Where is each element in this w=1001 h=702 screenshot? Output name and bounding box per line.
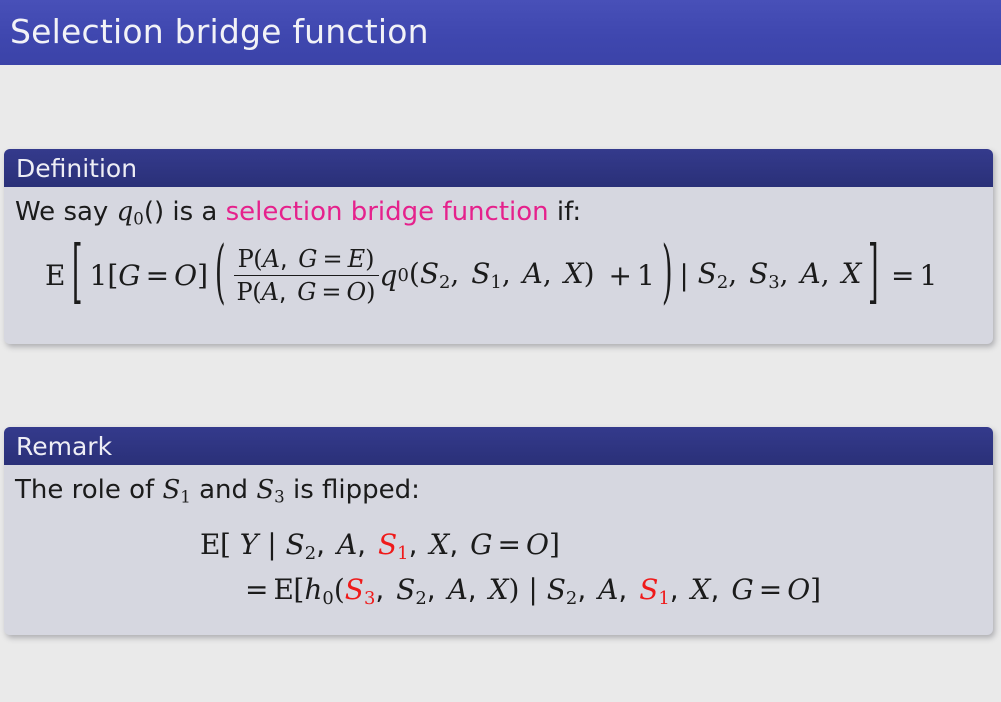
- remark-intro-before: The role of: [15, 475, 162, 505]
- definition-block-body: We say q0() is a selection bridge functi…: [4, 187, 993, 344]
- highlighted-s3-line2: S3: [345, 573, 376, 606]
- remark-equation-line-1: E[ Y | S2, A, S1, X, G=O]: [200, 528, 560, 564]
- definition-block: Definition We say q0() is a selection br…: [4, 149, 993, 344]
- q-symbol: q: [117, 197, 134, 227]
- remark-block-title: Remark: [16, 432, 112, 461]
- definition-intro-line: We say q0() is a selection bridge functi…: [15, 197, 581, 229]
- q-subscript: 0: [133, 210, 144, 229]
- s1-subscript: 1: [180, 488, 191, 507]
- fraction-denominator: P(A, G=O): [234, 275, 379, 306]
- probability-ratio-fraction: P(A, G=E) P(A, G=O): [234, 245, 379, 306]
- equation-open-bracket: [: [65, 234, 90, 313]
- conditioning-set: S2, S3, A, X: [689, 257, 862, 293]
- definition-equation: E [ 1[G=O] ( P(A, G=E) P(A, G=O) q0 (S2,…: [45, 245, 937, 306]
- slide-title-bar: Selection bridge function: [0, 0, 1001, 65]
- equation-close-paren: ): [655, 234, 680, 313]
- definition-intro-tail: if:: [549, 197, 581, 227]
- remark-block-body: The role of S1 and S3 is flipped: E[ Y |…: [4, 465, 993, 635]
- selection-bridge-function-highlight: selection bridge function: [226, 197, 549, 227]
- page-title: Selection bridge function: [10, 12, 429, 51]
- q-function-symbol: q: [380, 259, 398, 292]
- fraction-numerator: P(A, G=E): [235, 245, 378, 275]
- equation-open-paren: (: [208, 234, 233, 313]
- remark-block-header: Remark: [4, 427, 993, 465]
- highlighted-s1-line2: S1: [639, 573, 670, 606]
- definition-intro-before: We say: [15, 197, 117, 227]
- s3-symbol: S: [256, 475, 274, 505]
- plus-one-term: +1: [595, 259, 655, 292]
- q-function-subscript: 0: [397, 265, 408, 286]
- expectation-operator: E: [45, 259, 65, 292]
- equation-rhs: 1: [919, 259, 937, 292]
- equation-close-bracket: ]: [861, 234, 886, 313]
- remark-intro-tail: is flipped:: [285, 475, 420, 505]
- highlighted-s1-line1: S1: [378, 528, 409, 561]
- definition-block-title: Definition: [16, 154, 137, 183]
- remark-intro-line: The role of S1 and S3 is flipped:: [15, 475, 420, 507]
- definition-intro-after: () is a: [144, 197, 226, 227]
- equation-equals: =: [886, 259, 919, 292]
- s3-subscript: 3: [274, 488, 285, 507]
- indicator-function: 1[G=O]: [90, 259, 209, 292]
- remark-intro-middle: and: [191, 475, 256, 505]
- remark-block: Remark The role of S1 and S3 is flipped:…: [4, 427, 993, 635]
- definition-block-header: Definition: [4, 149, 993, 187]
- remark-equation-line-2: =E[h0(S3, S2, A, X) | S2, A, S1, X, G=O]: [240, 573, 821, 609]
- q-function-arguments: (S2, S1, A, X): [409, 257, 595, 293]
- conditional-bar: |: [679, 259, 688, 292]
- s1-symbol: S: [162, 475, 180, 505]
